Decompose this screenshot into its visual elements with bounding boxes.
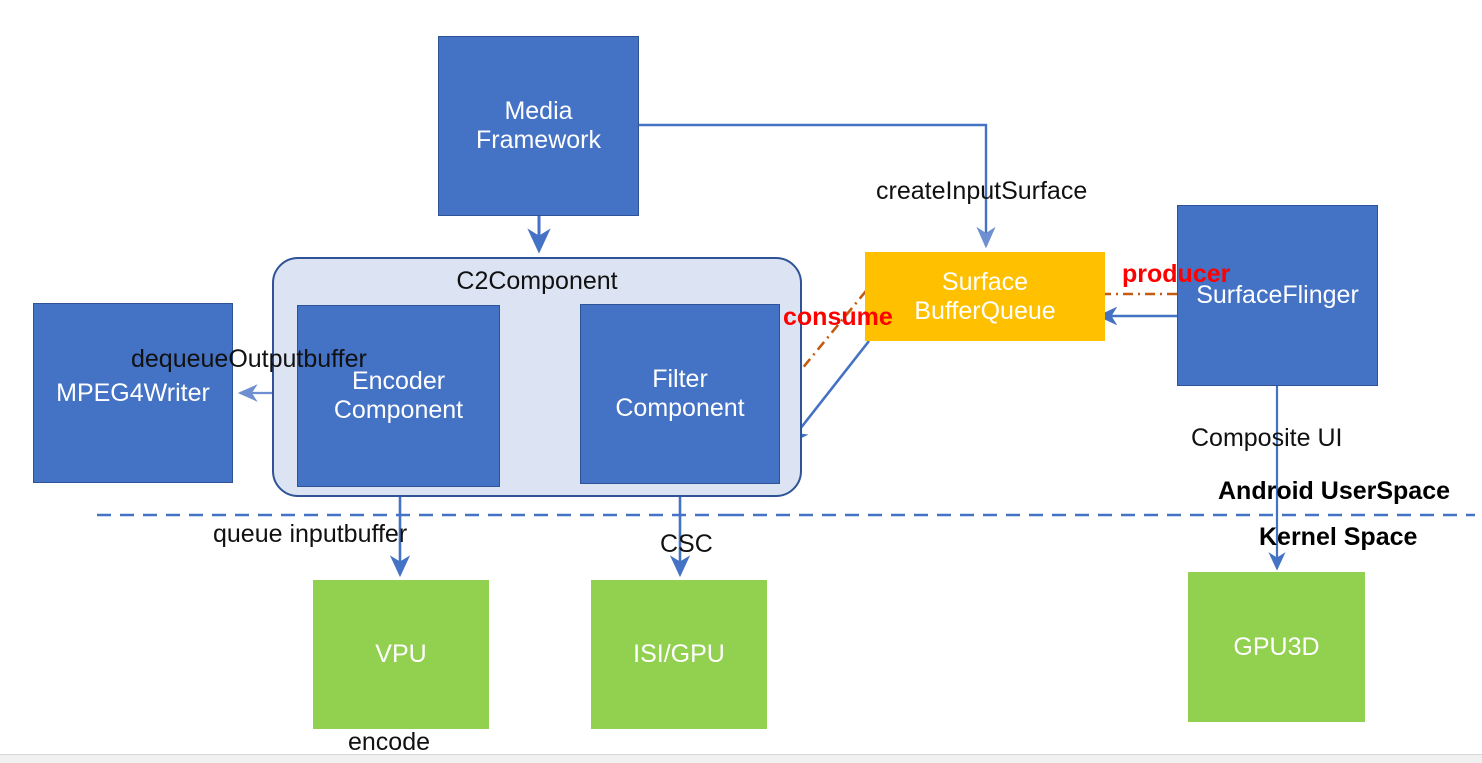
label-android-userspace: Android UserSpace <box>1218 478 1450 506</box>
footer-band <box>0 754 1482 763</box>
node-vpu-label: VPU <box>375 640 426 669</box>
node-media-framework[interactable]: Media Framework <box>438 36 639 216</box>
node-filter-component-label: Filter Component <box>615 365 744 423</box>
node-mpeg4writer[interactable]: MPEG4Writer <box>33 303 233 483</box>
label-composite-ui: Composite UI <box>1191 425 1342 453</box>
node-isi-gpu-label: ISI/GPU <box>633 640 725 669</box>
label-create-input-surface: createInputSurface <box>876 178 1087 206</box>
label-kernel-space: Kernel Space <box>1259 524 1417 552</box>
node-gpu3d-label: GPU3D <box>1233 633 1319 662</box>
node-vpu[interactable]: VPU <box>313 580 489 729</box>
label-csc: CSC <box>660 531 713 559</box>
label-dequeue-output-buffer: dequeueOutputbuffer <box>131 346 367 374</box>
node-encoder-component[interactable]: Encoder Component <box>297 305 500 487</box>
node-surfaceflinger[interactable]: SurfaceFlinger <box>1177 205 1378 386</box>
diagram-canvas: Media Framework C2Component Encoder Comp… <box>0 0 1482 763</box>
node-gpu3d[interactable]: GPU3D <box>1188 572 1365 722</box>
node-encoder-component-label: Encoder Component <box>334 367 463 425</box>
node-surface-bufferqueue-label: Surface BufferQueue <box>914 268 1055 326</box>
label-queue-input-buffer: queue inputbuffer <box>213 521 407 549</box>
node-surface-bufferqueue[interactable]: Surface BufferQueue <box>865 252 1105 341</box>
group-c2component-label: C2Component <box>274 267 800 296</box>
label-consume: consume <box>783 304 893 332</box>
node-mpeg4writer-label: MPEG4Writer <box>56 379 210 408</box>
node-isi-gpu[interactable]: ISI/GPU <box>591 580 767 729</box>
node-filter-component[interactable]: Filter Component <box>580 304 780 484</box>
node-media-framework-label: Media Framework <box>476 97 601 155</box>
label-producer: producer <box>1122 261 1230 289</box>
label-encode: encode <box>348 729 430 757</box>
